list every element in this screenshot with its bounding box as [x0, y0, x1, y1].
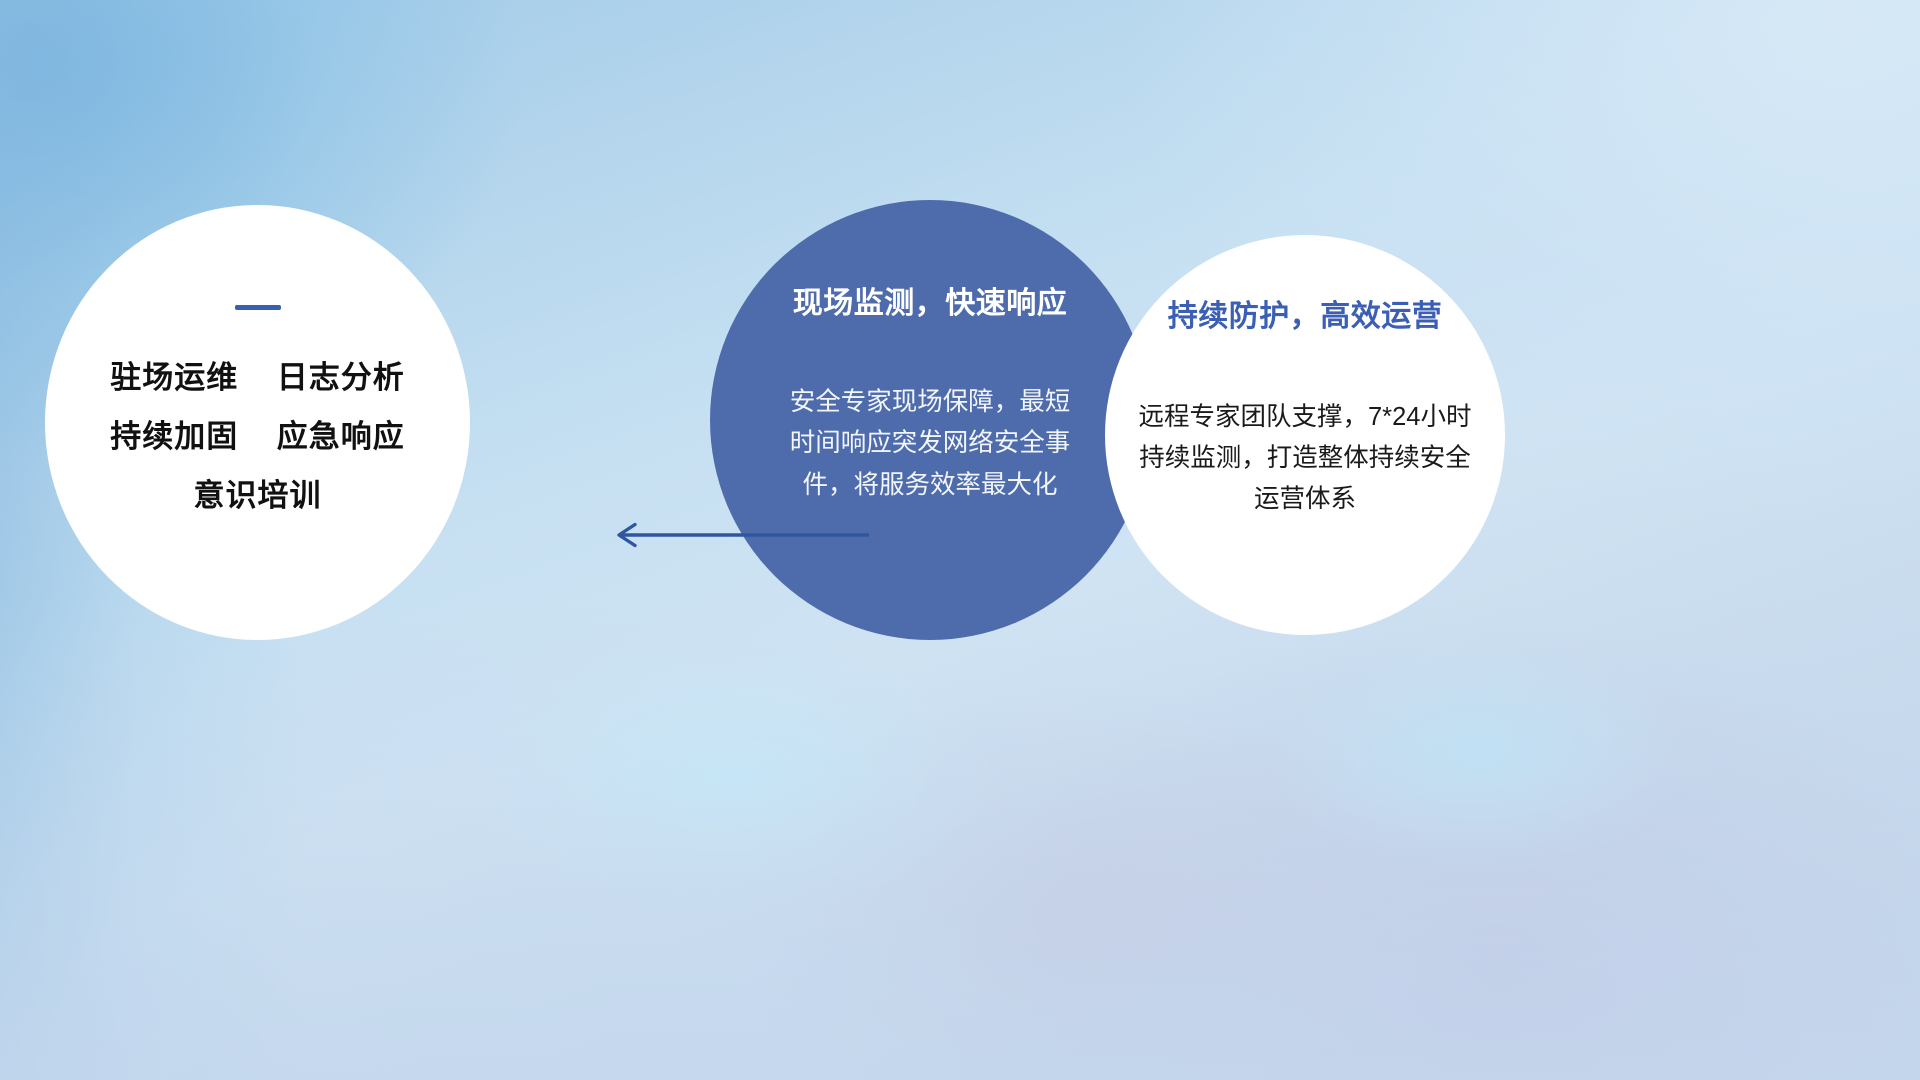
- capability-line-2: 持续加固 应急响应: [110, 421, 404, 452]
- capability-line-3: 意识培训: [194, 480, 322, 511]
- continuous-protection-body: 远程专家团队支撑，7*24小时持续监测，打造整体持续安全运营体系: [1129, 397, 1481, 519]
- slide-canvas: 驻场运维 日志分析 持续加固 应急响应 意识培训 现场监测，快速响应 安全专家现…: [0, 0, 1920, 1080]
- flow-arrow-left-icon: [605, 522, 870, 548]
- separator-dash-icon: [235, 305, 281, 310]
- onsite-monitoring-body: 安全专家现场保障，最短时间响应突发网络安全事件，将服务效率最大化: [780, 382, 1080, 506]
- feature-circle-onsite-monitoring: 现场监测，快速响应 安全专家现场保障，最短时间响应突发网络安全事件，将服务效率最…: [710, 200, 1150, 640]
- feature-circle-continuous-protection: 持续防护，高效运营 远程专家团队支撑，7*24小时持续监测，打造整体持续安全运营…: [1105, 235, 1505, 635]
- capability-circle-left: 驻场运维 日志分析 持续加固 应急响应 意识培训: [45, 205, 470, 640]
- capability-line-1: 驻场运维 日志分析: [110, 362, 404, 393]
- onsite-monitoring-heading: 现场监测，快速响应: [793, 278, 1068, 322]
- continuous-protection-heading: 持续防护，高效运营: [1168, 291, 1443, 335]
